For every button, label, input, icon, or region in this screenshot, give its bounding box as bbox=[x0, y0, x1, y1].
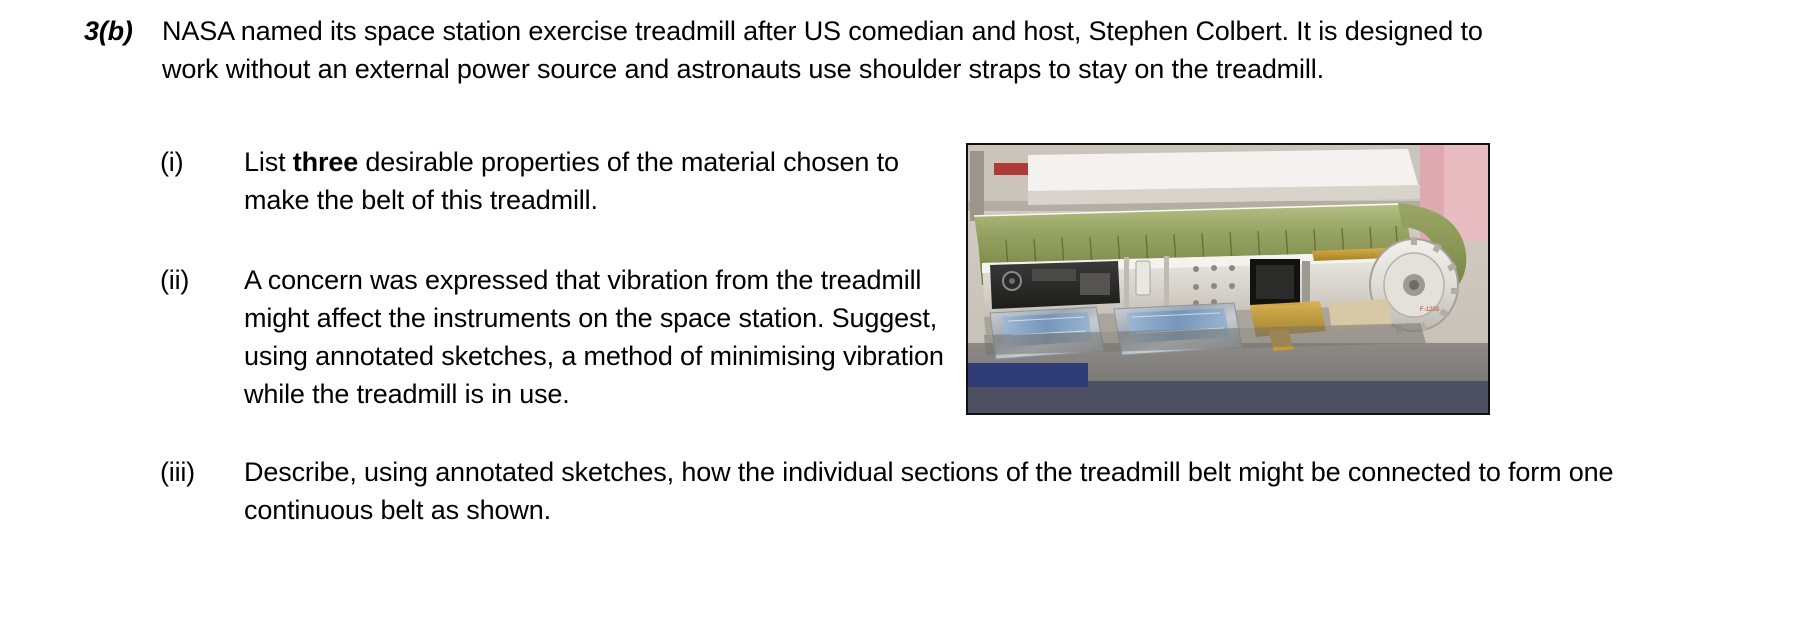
treadmill-bay-block bbox=[1080, 273, 1110, 295]
treadmill-bay-bracket bbox=[1032, 269, 1076, 281]
subpart-ii: (ii) A concern was expressed that vibrat… bbox=[160, 261, 954, 413]
subpart-iii-body: Describe, using annotated sketches, how … bbox=[244, 453, 1724, 529]
treadmill-frame-rib-1 bbox=[1124, 257, 1129, 315]
document-page: 3(b) NASA named its space station exerci… bbox=[0, 0, 1818, 637]
treadmill-bay-port-left-center bbox=[1009, 278, 1015, 284]
subpart-i: (i) List three desirable properties of t… bbox=[160, 143, 944, 219]
subpart-ii-label: (ii) bbox=[160, 261, 244, 299]
question-3b-block: 3(b) NASA named its space station exerci… bbox=[84, 12, 1704, 88]
treadmill-roller-marking: F-1203 bbox=[1420, 307, 1440, 313]
subpart-ii-text: A concern was expressed that vibration f… bbox=[244, 261, 954, 413]
subpart-i-text: List three desirable properties of the m… bbox=[244, 143, 944, 219]
question-stem: NASA named its space station exercise tr… bbox=[162, 12, 1492, 88]
subpart-iii-label: (iii) bbox=[160, 453, 244, 491]
treadmill-connector-edge bbox=[1302, 261, 1310, 305]
treadmill-photo-graphic: F-1203 bbox=[968, 145, 1488, 413]
treadmill-frame-plate bbox=[1136, 261, 1150, 295]
treadmill-frame-rib-2 bbox=[1164, 256, 1169, 314]
question-stem-text: NASA named its space station exercise tr… bbox=[162, 12, 1492, 88]
photo-bench-blue bbox=[968, 363, 1088, 387]
subpart-i-text-lead: List bbox=[244, 147, 293, 177]
question-number-label: 3(b) bbox=[84, 12, 162, 50]
subpart-ii-body: A concern was expressed that vibration f… bbox=[244, 261, 954, 413]
subpart-iii: (iii) Describe, using annotated sketches… bbox=[160, 453, 1724, 529]
subpart-i-label: (i) bbox=[160, 143, 244, 181]
treadmill-photograph: F-1203 bbox=[966, 143, 1490, 415]
photo-red-object bbox=[994, 163, 1028, 175]
treadmill-roller-hub-center bbox=[1409, 280, 1419, 290]
subpart-i-body: List three desirable properties of the m… bbox=[244, 143, 944, 219]
subpart-i-emphasis: three bbox=[293, 147, 358, 177]
subpart-iii-text: Describe, using annotated sketches, how … bbox=[244, 453, 1724, 529]
photo-post bbox=[970, 151, 984, 221]
treadmill-connector-inner bbox=[1256, 265, 1294, 299]
